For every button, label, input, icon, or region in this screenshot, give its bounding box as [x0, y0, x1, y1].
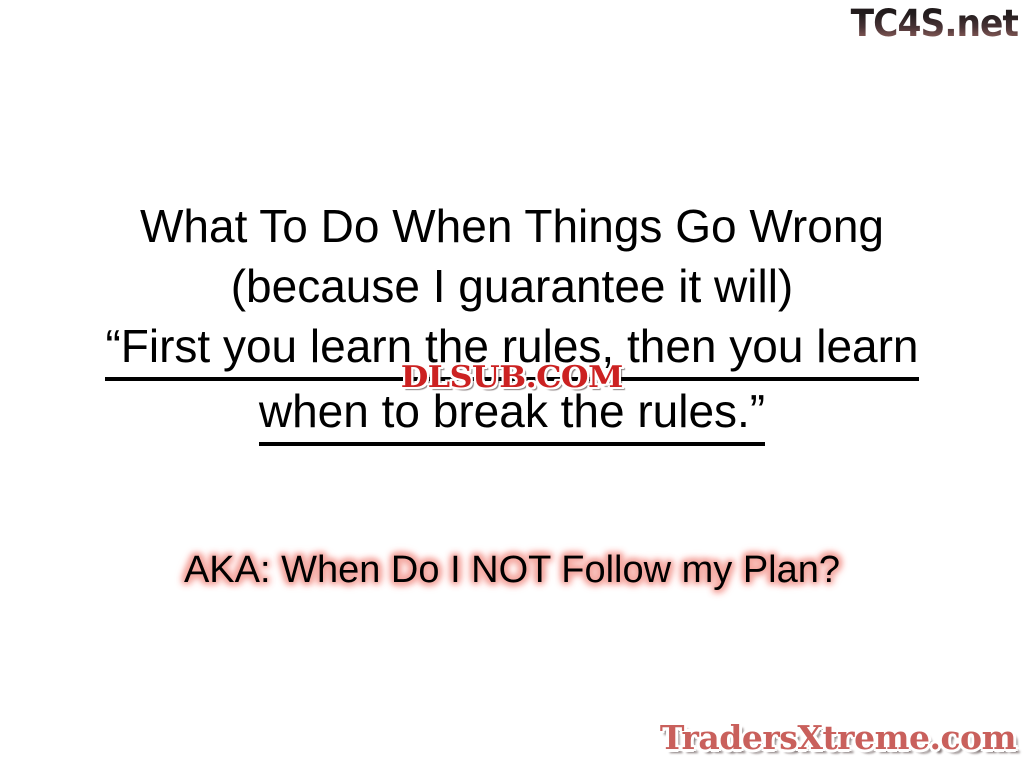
title-line-3-text: “First you learn the rules, then you lea…	[105, 316, 918, 381]
title-line-1-text: What To Do When Things Go Wrong	[140, 200, 884, 252]
page-title: What To Do When Things Go Wrong (because…	[0, 196, 1024, 446]
title-line-2: (because I guarantee it will)	[0, 256, 1024, 316]
title-line-3: “First you learn the rules, then you lea…	[0, 316, 1024, 381]
title-line-2-text: (because I guarantee it will)	[231, 260, 794, 312]
title-line-1: What To Do When Things Go Wrong	[0, 196, 1024, 256]
title-line-4-text: when to break the rules.”	[259, 381, 765, 446]
slide-canvas: TC4S.net What To Do When Things Go Wrong…	[0, 0, 1024, 768]
title-line-4: when to break the rules.”	[0, 381, 1024, 446]
tc4s-logo: TC4S.net	[851, 2, 1018, 46]
tradersxtreme-logo: TradersXtreme.com	[660, 718, 1016, 758]
subtitle-aka: AKA: When Do I NOT Follow my Plan?	[0, 546, 1024, 594]
